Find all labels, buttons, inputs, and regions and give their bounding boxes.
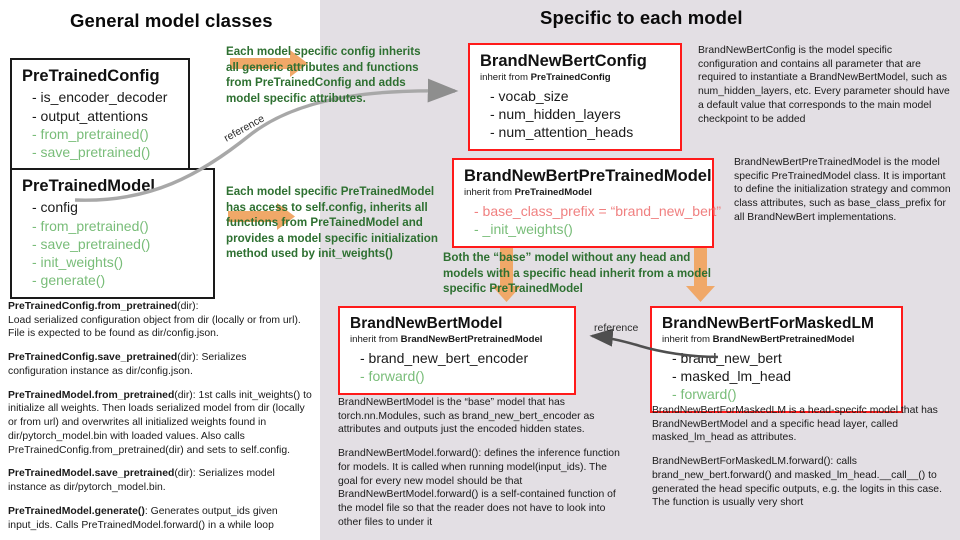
class-member: - from_pretrained() [22, 217, 203, 235]
desc-body: input_ids. Calls PreTrainedModel.forward… [8, 520, 274, 531]
class-title: BrandNewBertConfig [480, 52, 670, 71]
class-member: - is_encoder_decoder [22, 88, 178, 106]
class-member-list: - brand_new_bert_encoder - forward() [350, 349, 564, 385]
class-inherit-line: inherit from BrandNewBertPretrainedModel [350, 334, 564, 346]
class-member: - num_attention_heads [480, 123, 670, 141]
description-paragraph: PreTrainedModel.generate(): Generates ou… [8, 505, 313, 532]
class-inherit-line: inherit from PreTrainedModel [464, 187, 702, 199]
inherit-prefix: inherit from [350, 334, 401, 345]
class-member: - output_attentions [22, 107, 178, 125]
desc-lead-tail: (dir): Serializes [177, 352, 246, 363]
class-member: - save_pretrained() [22, 143, 178, 161]
class-box-pretrainedconfig[interactable]: PreTrainedConfig - is_encoder_decoder - … [10, 58, 190, 171]
description-paragraph: PreTrainedModel.from_pretrained(dir): 1s… [8, 389, 313, 458]
desc-lead-tail: (dir): Serializes model [174, 468, 274, 479]
class-member: - generate() [22, 271, 203, 289]
class-title: BrandNewBertPreTrainedModel [464, 167, 702, 186]
class-box-pretrainedmodel[interactable]: PreTrainedModel - config - from_pretrain… [10, 168, 215, 299]
desc-lead: PreTrainedConfig.from_pretrained [8, 301, 177, 312]
class-member-list: - base_class_prefix = “brand_new_bert” -… [464, 202, 702, 238]
inherit-class: PreTrainedModel [515, 187, 592, 198]
class-title: PreTrainedModel [22, 177, 203, 196]
class-member: - masked_lm_head [662, 367, 891, 385]
description-brandnewbertpretrainedmodel: BrandNewBertPreTrainedModel is the model… [734, 156, 956, 225]
class-title: PreTrainedConfig [22, 67, 178, 86]
class-member: - save_pretrained() [22, 235, 203, 253]
inherit-class: PreTrainedConfig [531, 72, 611, 83]
class-member: - num_hidden_layers [480, 105, 670, 123]
class-member: - config [22, 198, 203, 216]
right-column-title: Specific to each model [540, 7, 743, 29]
description-brandnewbertformaskedlm: BrandNewBertForMaskedLM is a head-specif… [652, 404, 954, 510]
annotation-model-inherits: Each model specific PreTrainedModel has … [226, 184, 448, 262]
class-box-brandnewbertformaskedlm[interactable]: BrandNewBertForMaskedLM inherit from Bra… [650, 306, 903, 413]
desc-lead: PreTrainedModel.generate() [8, 506, 145, 517]
class-member-list: - brand_new_bert - masked_lm_head - forw… [662, 349, 891, 403]
diagram-canvas: General model classes Specific to each m… [0, 0, 960, 540]
left-column-title: General model classes [70, 10, 273, 32]
description-paragraph: BrandNewBertForMaskedLM is a head-specif… [652, 404, 954, 445]
desc-lead: PreTrainedConfig.save_pretrained [8, 352, 177, 363]
inherit-prefix: inherit from [662, 334, 713, 345]
class-box-brandnewbertmodel[interactable]: BrandNewBertModel inherit from BrandNewB… [338, 306, 576, 395]
class-member: - forward() [350, 367, 564, 385]
inherit-class: BrandNewBertPretrainedModel [401, 334, 543, 345]
description-paragraph: BrandNewBertModel is the “base” model th… [338, 396, 622, 437]
class-member: - brand_new_bert [662, 349, 891, 367]
class-inherit-line: inherit from PreTrainedConfig [480, 72, 670, 84]
desc-lead: PreTrainedModel.from_pretrained [8, 390, 174, 401]
description-brandnewbertconfig: BrandNewBertConfig is the model specific… [698, 44, 952, 126]
description-paragraph: BrandNewBertModel.forward(): defines the… [338, 447, 622, 529]
class-member-list: - is_encoder_decoder - output_attentions… [22, 88, 178, 160]
class-box-brandnewbertconfig[interactable]: BrandNewBertConfig inherit from PreTrain… [468, 43, 682, 151]
description-paragraph: BrandNewBertForMaskedLM.forward(): calls… [652, 455, 954, 510]
inherit-prefix: inherit from [480, 72, 531, 83]
class-member-list: - vocab_size - num_hidden_layers - num_a… [480, 87, 670, 141]
desc-body: instance as dir/pytorch_model.bin. [8, 482, 166, 493]
class-member: - brand_new_bert_encoder [350, 349, 564, 367]
class-member: - vocab_size [480, 87, 670, 105]
class-title: BrandNewBertForMaskedLM [662, 315, 891, 333]
class-member: - forward() [662, 385, 891, 403]
description-paragraph: PreTrainedConfig.save_pretrained(dir): S… [8, 351, 313, 378]
class-member: - init_weights() [22, 253, 203, 271]
class-member: - _init_weights() [464, 220, 702, 238]
description-paragraph: BrandNewBertPreTrainedModel is the model… [734, 156, 956, 225]
description-paragraph: PreTrainedConfig.from_pretrained(dir):Lo… [8, 300, 313, 341]
desc-body: Load serialized configuration object fro… [8, 315, 301, 340]
left-descriptions: PreTrainedConfig.from_pretrained(dir):Lo… [8, 300, 313, 532]
desc-lead-tail: : Generates output_ids given [145, 506, 278, 517]
class-member-list: - config - from_pretrained() - save_pret… [22, 198, 203, 288]
inherit-prefix: inherit from [464, 187, 515, 198]
class-inherit-line: inherit from BrandNewBertPretrainedModel [662, 334, 891, 346]
class-title: BrandNewBertModel [350, 315, 564, 333]
annotation-config-inherits: Each model specific config inherits all … [226, 44, 436, 106]
class-member: - from_pretrained() [22, 125, 178, 143]
class-member: - base_class_prefix = “brand_new_bert” [464, 202, 702, 220]
desc-lead-tail: (dir): [177, 301, 198, 312]
reference-label-maskedlm: reference [594, 322, 638, 334]
description-paragraph: BrandNewBertConfig is the model specific… [698, 44, 952, 126]
desc-lead: PreTrainedModel.save_pretrained [8, 468, 174, 479]
desc-body: configuration instance as dir/config.jso… [8, 366, 193, 377]
class-box-brandnewbertpretrainedmodel[interactable]: BrandNewBertPreTrainedModel inherit from… [452, 158, 714, 248]
description-brandnewbertmodel: BrandNewBertModel is the “base” model th… [338, 396, 622, 530]
annotation-both-base-and-head: Both the “base” model without any head a… [443, 250, 715, 297]
inherit-class: BrandNewBertPretrainedModel [713, 334, 855, 345]
description-paragraph: PreTrainedModel.save_pretrained(dir): Se… [8, 467, 313, 494]
desc-lead-tail: (dir): 1st calls init_weights() [174, 390, 300, 401]
